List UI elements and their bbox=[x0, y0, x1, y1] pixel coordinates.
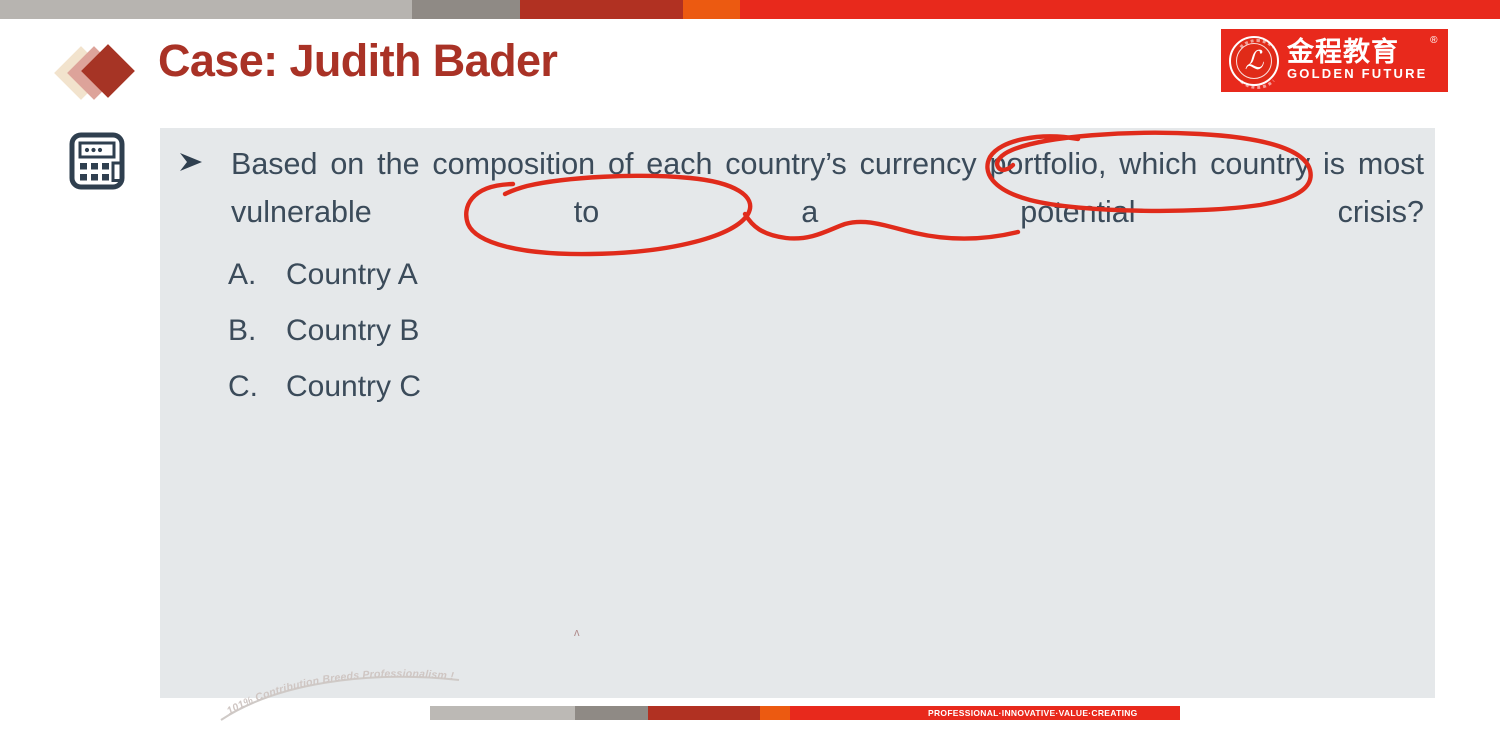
bottom-bar-segment-dark-red bbox=[648, 706, 760, 720]
top-bar-segment-dark-red bbox=[520, 0, 683, 19]
option-b[interactable]: B. Country B bbox=[228, 303, 421, 359]
bottom-bar-segment-medium-gray bbox=[575, 706, 648, 720]
option-b-label: Country B bbox=[286, 303, 419, 359]
logo-seal-icon: ℒ bbox=[1229, 36, 1279, 86]
logo-name-en: GOLDEN FUTURE bbox=[1287, 66, 1428, 83]
logo-name-cn: 金程教育® bbox=[1287, 38, 1428, 66]
slide-header: Case: Judith Bader ℒ 金程教育® GOLDEN FUTURE bbox=[0, 19, 1500, 106]
top-bar-segment-light-gray bbox=[0, 0, 412, 19]
option-a-letter: A. bbox=[228, 247, 286, 303]
option-b-letter: B. bbox=[228, 303, 286, 359]
stray-cursor-artifact: ʌ bbox=[574, 628, 583, 638]
logo-name-cn-text: 金程教育 bbox=[1287, 37, 1399, 67]
bottom-bar-segment-light-gray bbox=[430, 706, 575, 720]
registered-trademark-icon: ® bbox=[1430, 36, 1438, 47]
page-title: Case: Judith Bader bbox=[158, 35, 557, 87]
calculator-icon bbox=[69, 132, 125, 190]
option-c[interactable]: C. Country C bbox=[228, 359, 421, 415]
top-bar-segment-bright-red bbox=[740, 0, 1500, 19]
option-a-label: Country A bbox=[286, 247, 418, 303]
logo-text-block: 金程教育® GOLDEN FUTURE bbox=[1287, 38, 1428, 83]
footer-tagline: PROFESSIONAL·INNOVATIVE·VALUE·CREATING bbox=[928, 706, 1138, 720]
arrow-bullet-icon bbox=[178, 151, 204, 173]
option-a[interactable]: A. Country A bbox=[228, 247, 421, 303]
diamond-decoration-icon bbox=[62, 44, 140, 102]
top-bar-segment-medium-gray bbox=[412, 0, 520, 19]
bottom-bar-segment-orange bbox=[760, 706, 790, 720]
brand-logo: ℒ 金程教育® GOLDEN FUTURE bbox=[1221, 29, 1448, 92]
bottom-color-bar: PROFESSIONAL·INNOVATIVE·VALUE·CREATING bbox=[0, 706, 1500, 720]
option-c-letter: C. bbox=[228, 359, 286, 415]
top-bar-segment-orange bbox=[683, 0, 740, 19]
logo-monogram: ℒ bbox=[1231, 38, 1277, 84]
top-color-bar bbox=[0, 0, 1500, 19]
option-c-label: Country C bbox=[286, 359, 421, 415]
answer-options-list: A. Country A B. Country B C. Country C bbox=[228, 247, 421, 415]
